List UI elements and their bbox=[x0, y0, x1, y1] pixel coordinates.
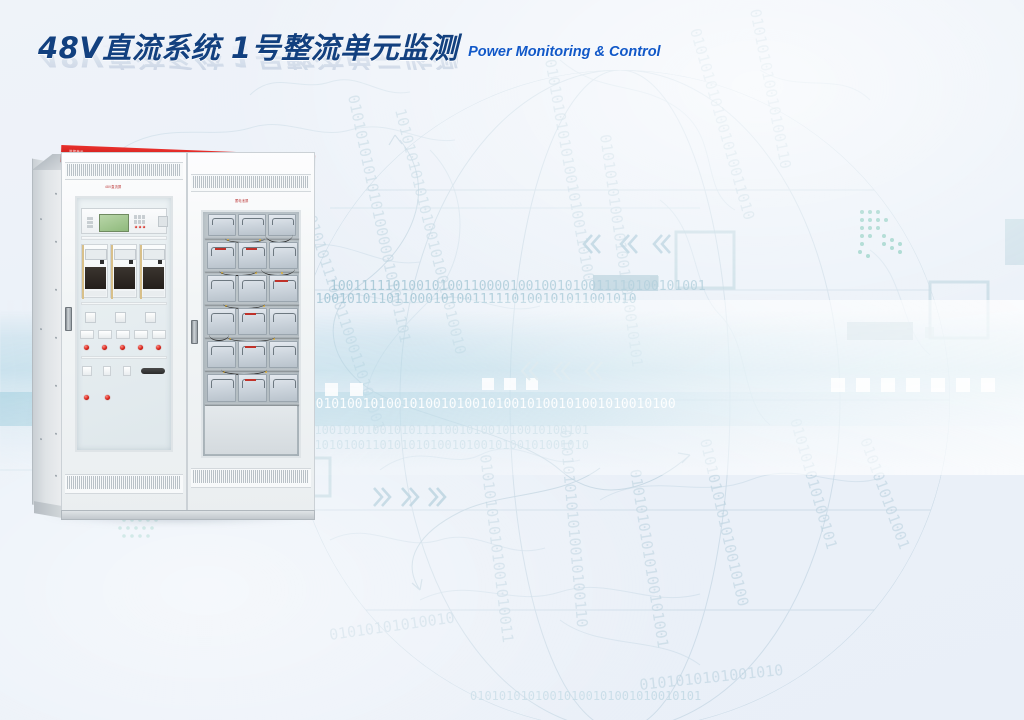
screen-root: 0101010101010100000101001101 10101010101… bbox=[0, 0, 1024, 720]
door-handle-right[interactable] bbox=[191, 320, 198, 344]
battery-3-3 bbox=[269, 275, 298, 302]
header-title-group: 48V直流系统 1号整流单元监测 Power Monitoring & Cont… bbox=[38, 34, 661, 63]
door-label-left: 48V直流屏 bbox=[105, 184, 121, 189]
bay-left-glass-window bbox=[75, 196, 173, 452]
door-label-right: 蓄电池屏 bbox=[235, 198, 249, 203]
switch-1[interactable] bbox=[80, 330, 94, 339]
page-title: 48V直流系统 1号整流单元监测 bbox=[38, 34, 458, 63]
switch-4[interactable] bbox=[134, 330, 148, 339]
indicator-lamp-4 bbox=[138, 345, 143, 350]
door-handle-left[interactable] bbox=[65, 307, 72, 331]
battery-2-1 bbox=[207, 242, 236, 269]
bay-right-glass-window bbox=[201, 210, 301, 458]
page-subtitle: Power Monitoring & Control bbox=[468, 44, 661, 60]
battery-shelf-6 bbox=[205, 403, 299, 405]
battery-1-2 bbox=[238, 214, 266, 236]
mcb-2[interactable] bbox=[115, 312, 126, 323]
meter-slot bbox=[141, 368, 165, 374]
bottom-indicator-1 bbox=[84, 395, 89, 400]
cabinet-plinth bbox=[61, 510, 315, 520]
dc-power-cabinet-image: 监控单元 蓄电池屏 48V直流屏 bbox=[32, 140, 322, 532]
bottom-vent-left bbox=[67, 476, 181, 489]
bottom-switch-3[interactable] bbox=[123, 366, 131, 376]
top-vent-left bbox=[67, 164, 181, 176]
battery-6-2 bbox=[238, 374, 267, 402]
cabinet-bay-left: 48V直流屏 bbox=[61, 152, 187, 520]
monitor-unit-module bbox=[81, 208, 167, 234]
bottom-switch-1[interactable] bbox=[82, 366, 92, 376]
indicator-lamp-1 bbox=[84, 345, 89, 350]
cabinet-side-panel bbox=[32, 159, 63, 510]
bottom-vent-right bbox=[193, 470, 309, 483]
mcb-3[interactable] bbox=[145, 312, 156, 323]
battery-3-1 bbox=[207, 275, 236, 302]
top-vent-right bbox=[193, 176, 309, 188]
battery-1-1 bbox=[208, 214, 236, 236]
indicator-lamp-3 bbox=[120, 345, 125, 350]
switch-2[interactable] bbox=[98, 330, 112, 339]
battery-6-1 bbox=[207, 374, 236, 402]
indicator-lamp-5 bbox=[156, 345, 161, 350]
battery-3-2 bbox=[238, 275, 267, 302]
cabinet-bay-right: 蓄电池屏 bbox=[187, 152, 315, 520]
bottom-indicator-2 bbox=[105, 395, 110, 400]
rectifier-module-2 bbox=[110, 244, 137, 298]
battery-6-3 bbox=[269, 374, 298, 402]
svg-text:010101010100101001010010100101: 01010101010010100101001010010101 bbox=[470, 689, 701, 703]
rectifier-module-1 bbox=[81, 244, 108, 298]
panel-divider-2 bbox=[81, 302, 167, 305]
rectifier-module-3 bbox=[139, 244, 166, 298]
mcb-1[interactable] bbox=[85, 312, 96, 323]
battery-4-3 bbox=[269, 308, 298, 335]
battery-4-2 bbox=[238, 308, 267, 335]
indicator-lamp-2 bbox=[102, 345, 107, 350]
panel-divider-3 bbox=[81, 356, 167, 359]
bottom-switch-2[interactable] bbox=[103, 366, 111, 376]
switch-5[interactable] bbox=[152, 330, 166, 339]
monitor-unit-lcd bbox=[99, 214, 129, 232]
switch-3[interactable] bbox=[116, 330, 130, 339]
battery-5-3 bbox=[269, 341, 298, 368]
panel-divider-1 bbox=[81, 236, 167, 240]
